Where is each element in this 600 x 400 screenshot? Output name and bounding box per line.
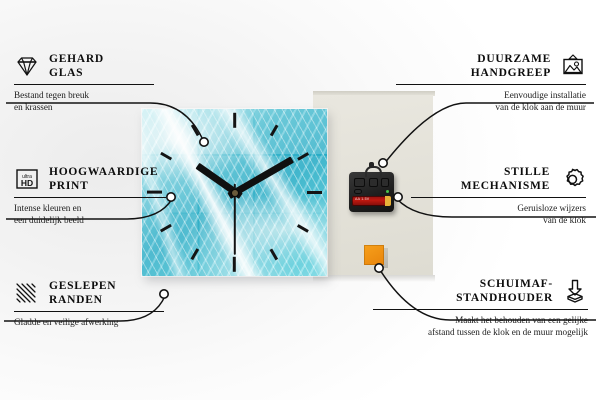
callout-subtitle-line2: van de klok aan de muur: [396, 102, 586, 114]
callout-subtitle-line1: Intense kleuren en: [14, 203, 204, 215]
ultra-hd-icon: ultra HD: [14, 167, 40, 191]
callout-title-line1: STILLE: [461, 165, 550, 179]
callout-title: STILLE MECHANISME: [461, 165, 550, 193]
callout-subtitle: Bestand tegen breuk en krassen: [14, 90, 184, 114]
callout-header: GESLEPEN RANDEN: [14, 279, 194, 307]
callout-tempered-glass: GEHARD GLAS Bestand tegen breuk en krass…: [14, 52, 184, 114]
callout-title: GEHARD GLAS: [49, 52, 104, 80]
callout-subtitle-line1: Geruisloze wijzers: [411, 203, 586, 215]
callout-title-line2: MECHANISME: [461, 179, 550, 193]
callout-subtitle-line1: Maakt het behouden van een gelijke: [373, 315, 588, 327]
callout-subtitle: Maakt het behouden van een gelijke afsta…: [373, 315, 588, 339]
callout-subtitle-line1: Bestand tegen breuk: [14, 90, 184, 102]
callout-title-line1: DUURZAME: [471, 52, 551, 66]
callout-divider: [373, 309, 588, 310]
callout-subtitle-line2: een duidelijk beeld: [14, 215, 204, 227]
callout-divider: [14, 84, 154, 85]
callout-foam-spacer: SCHUIMAF- STANDHOUDER Maakt het behouden…: [373, 277, 588, 339]
beveled-edges-icon: [14, 281, 40, 305]
callout-subtitle-line1: Gladde en veilige afwerking: [14, 317, 194, 329]
diamond-icon: [14, 54, 40, 78]
callout-title: GESLEPEN RANDEN: [49, 279, 116, 307]
press-pad-icon: [562, 279, 588, 304]
infographic-canvas: AA 1.5V: [0, 0, 600, 400]
callout-divider: [14, 197, 166, 198]
callout-header: DUURZAME HANDGREEP: [396, 52, 586, 80]
callout-title: DUURZAME HANDGREEP: [471, 52, 551, 80]
callout-subtitle: Eenvoudige installatie van de klok aan d…: [396, 90, 586, 114]
callout-subtitle-line1: Eenvoudige installatie: [396, 90, 586, 102]
hanging-frame-icon: [560, 54, 586, 78]
callout-subtitle-line2: van de klok: [411, 215, 586, 227]
callout-divider: [411, 197, 586, 198]
svg-text:HD: HD: [21, 178, 33, 188]
callout-header: GEHARD GLAS: [14, 52, 184, 80]
callout-title-line1: GESLEPEN: [49, 279, 116, 293]
callout-header: SCHUIMAF- STANDHOUDER: [373, 277, 588, 305]
callout-title-line1: GEHARD: [49, 52, 104, 66]
callout-title-line2: PRINT: [49, 179, 158, 193]
callout-title: HOOGWAARDIGE PRINT: [49, 165, 158, 193]
callout-subtitle: Intense kleuren en een duidelijk beeld: [14, 203, 204, 227]
callout-title-line2: STANDHOUDER: [456, 291, 553, 305]
callout-header: ultra HD HOOGWAARDIGE PRINT: [14, 165, 204, 193]
callout-header: STILLE MECHANISME: [411, 165, 586, 193]
callout-subtitle-line2: afstand tussen de klok en de muur mogeli…: [373, 327, 588, 339]
callout-title-line1: SCHUIMAF-: [456, 277, 553, 291]
callout-beveled-edges: GESLEPEN RANDEN Gladde en veilige afwerk…: [14, 279, 194, 329]
callout-divider: [396, 84, 586, 85]
connector-dot-1: [200, 138, 208, 146]
callout-title-line1: HOOGWAARDIGE: [49, 165, 158, 179]
callout-divider: [14, 311, 164, 312]
callout-silent-mechanism: STILLE MECHANISME Geruisloze wijzers van…: [411, 165, 586, 227]
callout-subtitle: Gladde en veilige afwerking: [14, 317, 194, 329]
callout-title: SCHUIMAF- STANDHOUDER: [456, 277, 553, 305]
connector-dot-5: [394, 193, 402, 201]
callout-high-quality-print: ultra HD HOOGWAARDIGE PRINT Intense kleu…: [14, 165, 204, 227]
callout-title-line2: GLAS: [49, 66, 104, 80]
callout-title-line2: HANDGREEP: [471, 66, 551, 80]
connector-dot-6: [375, 264, 383, 272]
gear-icon: [559, 167, 586, 192]
callout-durable-hanger: DUURZAME HANDGREEP Eenvoudige installati…: [396, 52, 586, 114]
callout-subtitle: Geruisloze wijzers van de klok: [411, 203, 586, 227]
callout-title-line2: RANDEN: [49, 293, 116, 307]
callout-subtitle-line2: en krassen: [14, 102, 184, 114]
connector-dot-4: [379, 159, 387, 167]
